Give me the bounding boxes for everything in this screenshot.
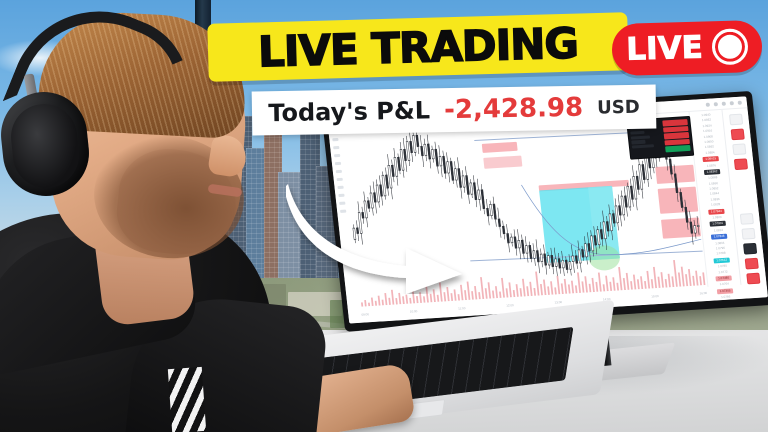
account-icon[interactable] — [745, 258, 759, 270]
undo-icon[interactable] — [706, 102, 710, 106]
price-tick: 1.0804 — [715, 241, 725, 245]
price-chip[interactable]: 1.07480 — [715, 275, 732, 281]
text-tool-icon[interactable] — [336, 170, 342, 173]
pnl-value: -2,428.98 — [444, 93, 584, 125]
thumbnail-canvas: EURUSD — [0, 0, 768, 432]
hotlist-icon[interactable] — [734, 158, 748, 170]
sell-level[interactable] — [662, 119, 687, 126]
ideas-icon[interactable] — [740, 213, 754, 225]
time-tick: 09:00 — [361, 312, 369, 316]
time-tick: 11:00 — [458, 306, 466, 310]
hide-tool-icon[interactable] — [339, 202, 345, 205]
buy-level[interactable] — [665, 145, 690, 152]
live-badge-label: LIVE — [626, 30, 703, 68]
price-chip[interactable]: 1.08415 — [702, 156, 719, 162]
trash-tool-icon[interactable] — [340, 210, 346, 213]
time-tick: 12:00 — [506, 303, 514, 307]
price-tick: 1.0820 — [712, 216, 722, 220]
price-chip[interactable]: 1.07901 — [709, 221, 726, 227]
price-tick: 1.0796 — [716, 247, 726, 251]
trendline-tool-icon[interactable] — [333, 146, 339, 149]
price-tick: 1.0836 — [710, 198, 720, 202]
magnet-tool-icon[interactable] — [337, 186, 343, 189]
time-tick: 10:00 — [410, 309, 418, 313]
price-tick: 1.0860 — [709, 182, 719, 186]
snapshot-icon[interactable] — [738, 100, 742, 104]
pnl-label: Today's P&L — [268, 96, 430, 127]
layout-icon[interactable] — [714, 102, 718, 106]
price-tick: 1.0772 — [718, 270, 728, 274]
price-tick: 1.0908 — [704, 135, 714, 139]
price-tick: 1.0812 — [714, 229, 724, 233]
price-tick: 1.0924 — [702, 124, 712, 128]
price-tick: 1.0940 — [701, 114, 711, 118]
fib-tool-icon[interactable] — [334, 154, 340, 157]
price-tick: 1.0916 — [703, 130, 713, 134]
chat-icon[interactable] — [741, 228, 755, 240]
sleeve-stripe — [168, 367, 206, 432]
price-chip[interactable]: 1.07612 — [713, 257, 730, 263]
shapes-tool-icon[interactable] — [335, 162, 341, 165]
time-tick: 13:00 — [554, 300, 562, 304]
order-book-right — [662, 117, 693, 156]
price-tick: 1.0892 — [705, 146, 715, 150]
price-chip[interactable]: 1.07355 — [716, 288, 733, 294]
alerts-icon[interactable] — [731, 129, 745, 141]
price-tick: 1.0828 — [711, 203, 721, 207]
orders-icon[interactable] — [743, 243, 757, 255]
price-tick: 1.0788 — [716, 252, 726, 256]
pnl-strip: Today's P&L -2,428.98 USD — [252, 84, 657, 135]
fullscreen-icon[interactable] — [730, 101, 734, 105]
price-tick: 1.0868 — [708, 177, 718, 181]
cursor-tool-icon[interactable] — [332, 138, 338, 141]
time-tick: 16:00 — [699, 290, 707, 294]
price-chip[interactable]: 1.07848 — [710, 234, 727, 240]
price-chip[interactable]: 1.07944 — [708, 208, 725, 214]
time-tick: 15:00 — [651, 294, 659, 298]
record-circle-icon — [711, 28, 748, 65]
lock-tool-icon[interactable] — [338, 194, 344, 197]
price-tick: 1.0852 — [709, 187, 719, 191]
price-tick: 1.0756 — [721, 296, 731, 300]
gear-icon[interactable] — [722, 101, 726, 105]
price-tick: 1.0932 — [702, 119, 712, 123]
price-tick: 1.0884 — [705, 151, 715, 155]
live-badge: LIVE — [611, 20, 762, 76]
news-icon[interactable] — [732, 143, 746, 155]
price-tick: 1.0900 — [704, 140, 714, 144]
watchlist-icon[interactable] — [729, 114, 743, 126]
price-tick: 1.0844 — [710, 193, 720, 197]
price-tick: 1.0876 — [707, 164, 717, 168]
page-title: LIVE TRADING — [207, 12, 628, 82]
price-chip[interactable]: 1.08362 — [703, 169, 720, 175]
pnl-currency: USD — [597, 96, 640, 118]
settings-icon[interactable] — [746, 273, 760, 285]
price-tick: 1.0780 — [718, 265, 728, 269]
price-tick: 1.0764 — [720, 283, 730, 287]
measure-tool-icon[interactable] — [337, 178, 343, 181]
